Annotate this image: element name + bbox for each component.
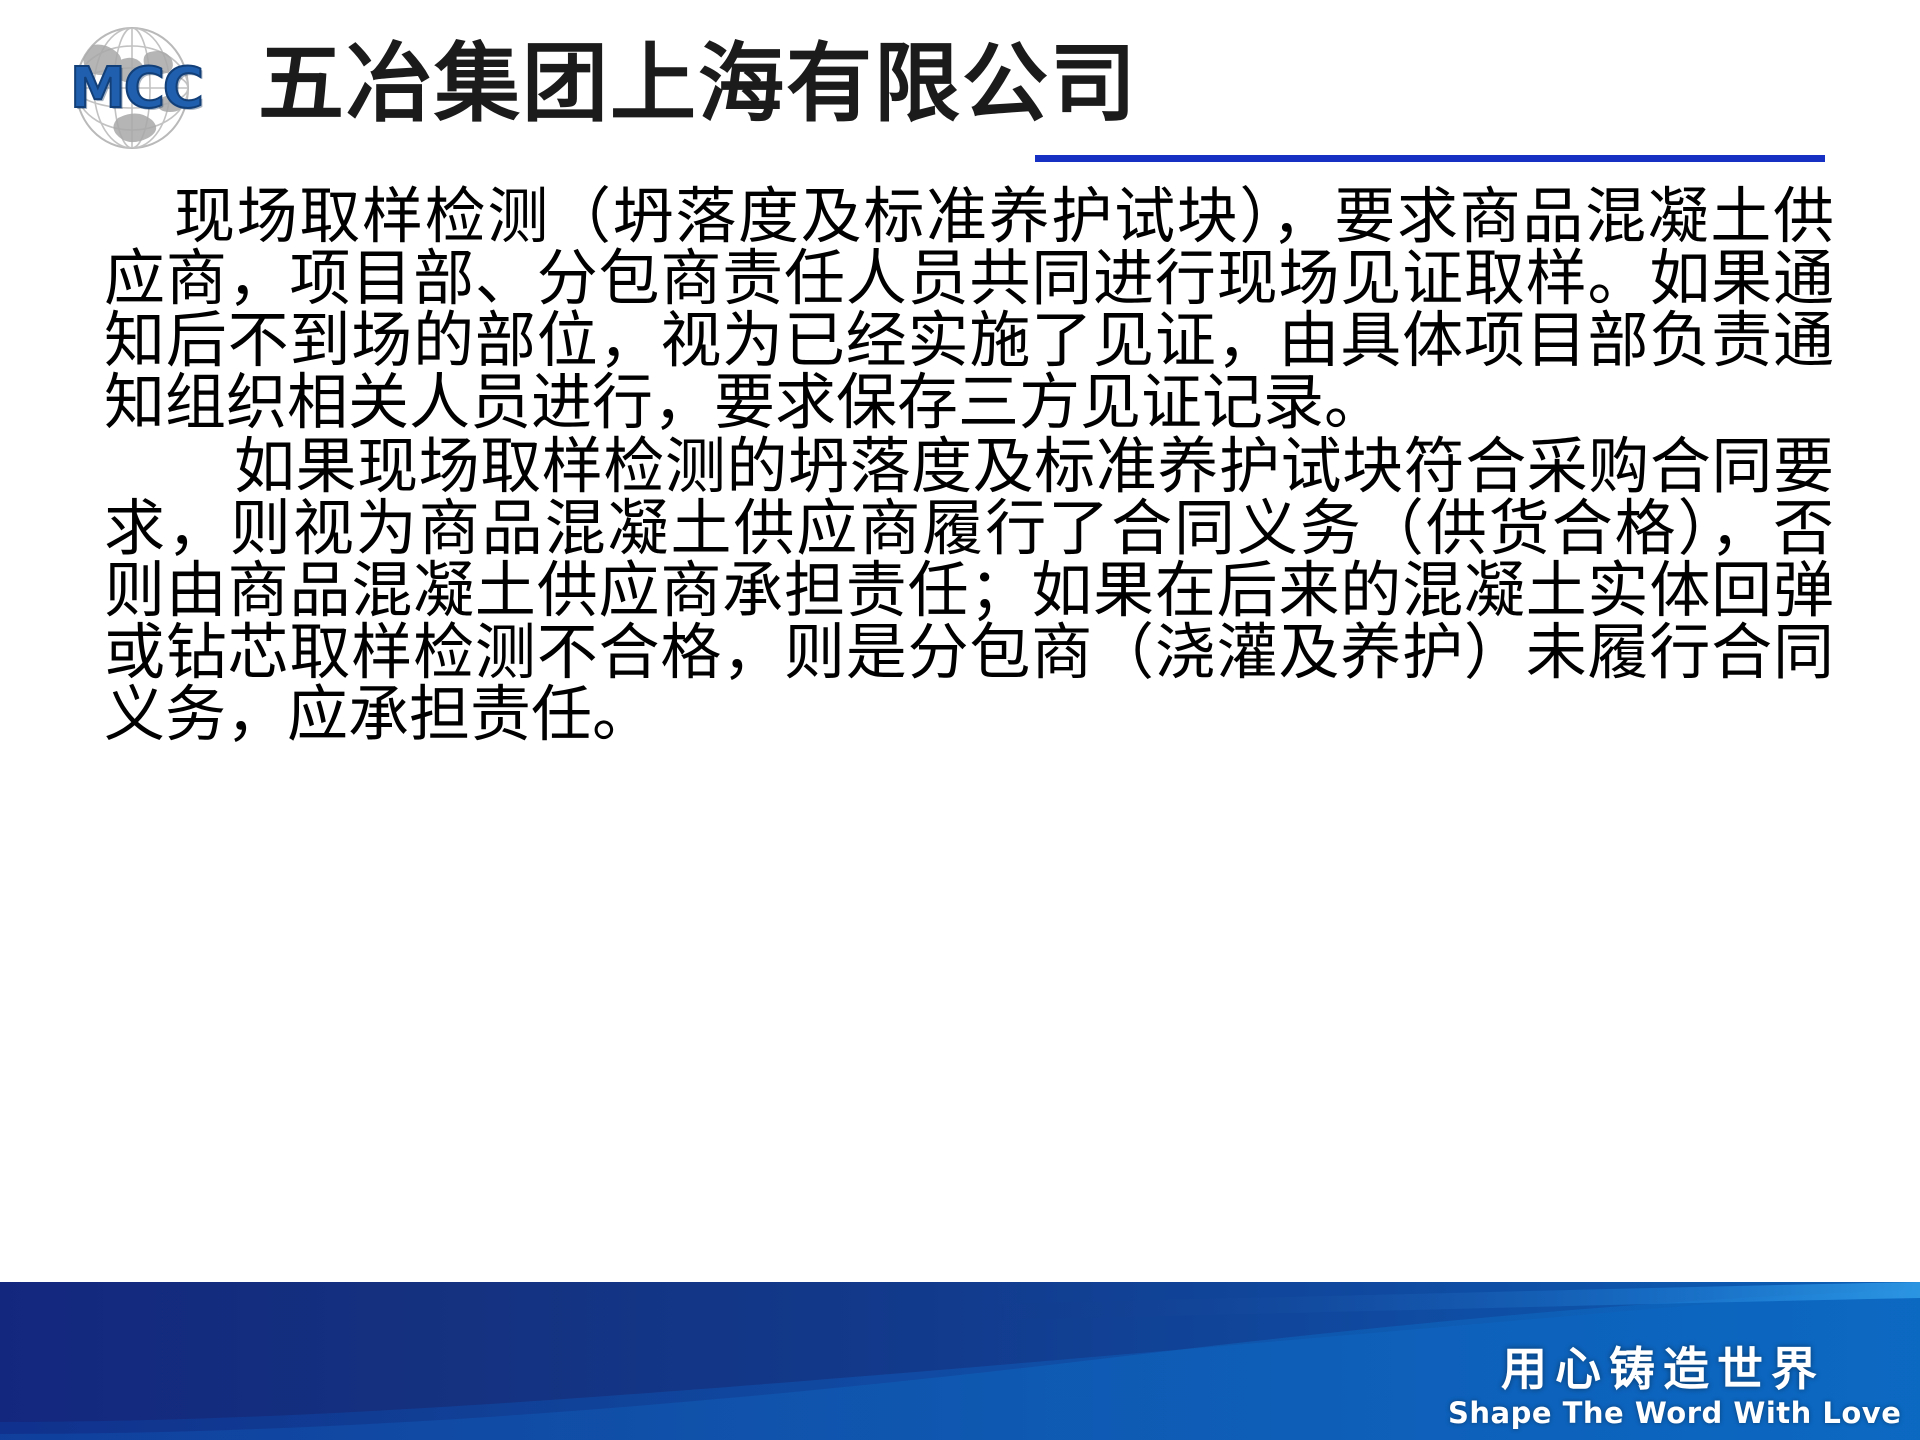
footer-slogan: 用心铸造世界 Shape The Word With Love [1448,1342,1878,1430]
company-title: 五冶集团上海有限公司 [258,36,1138,132]
slide-canvas: MCC 五冶集团上海有限公司 现场取样检测（坍落度及标准养护试块），要求商品混凝… [0,0,1920,1440]
body-paragraph-2: 如果现场取样检测的坍落度及标准养护试块符合采购合同要求，则视为商品混凝土供应商履… [104,436,1834,746]
body-paragraph-1: 现场取样检测（坍落度及标准养护试块），要求商品混凝土供应商，项目部、分包商责任人… [104,186,1834,434]
company-logo: MCC [18,22,248,150]
header-divider [1035,155,1825,162]
logo-mcc-text: MCC [24,60,248,118]
footer-slogan-en: Shape The Word With Love [1448,1396,1878,1430]
footer-slogan-cn: 用心铸造世界 [1448,1342,1878,1396]
slide-header: MCC 五冶集团上海有限公司 [0,0,1920,170]
slide-body: 现场取样检测（坍落度及标准养护试块），要求商品混凝土供应商，项目部、分包商责任人… [104,186,1834,746]
slide-footer-banner: 用心铸造世界 Shape The Word With Love [0,1282,1920,1440]
